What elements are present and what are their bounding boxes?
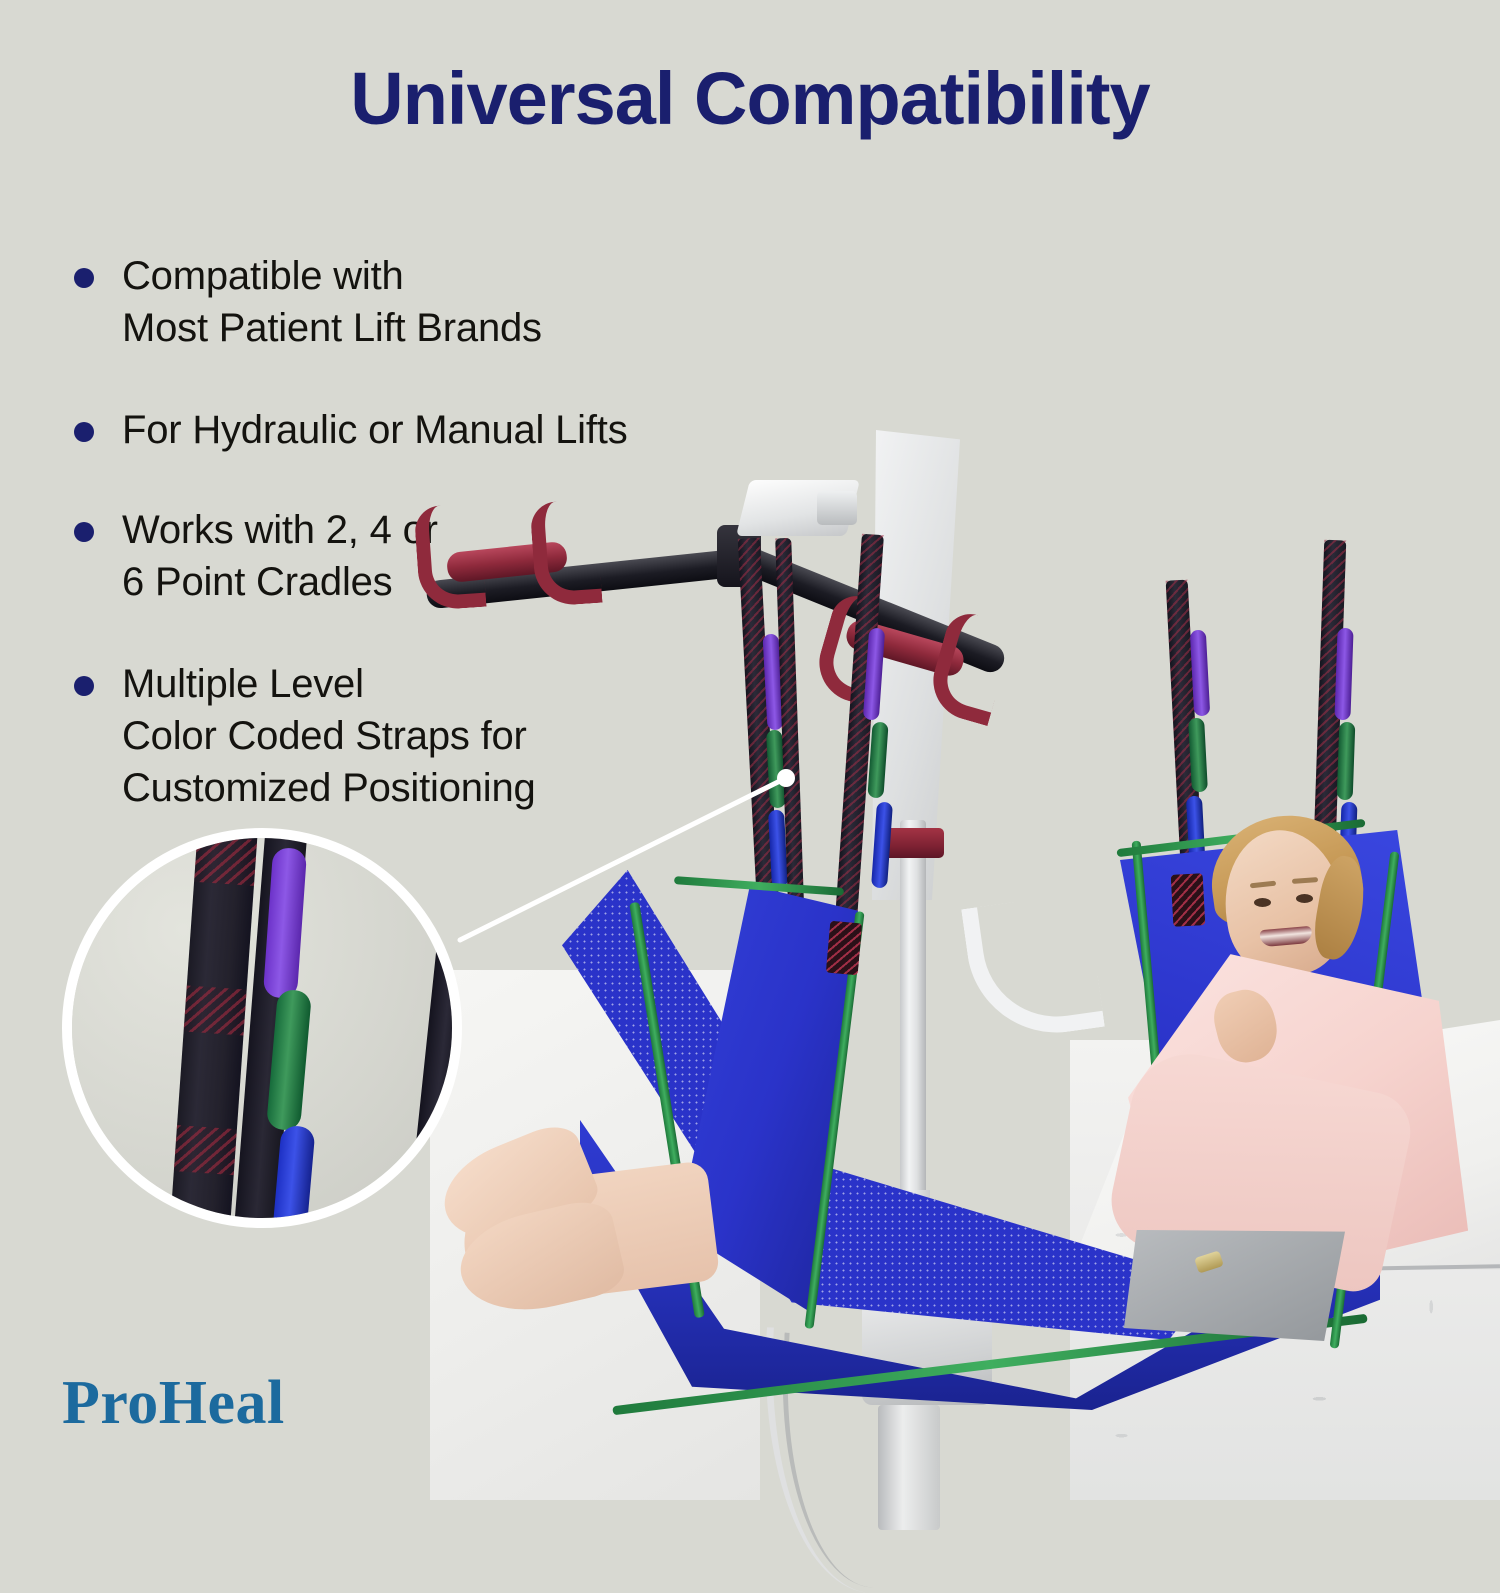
patient-sling (430, 430, 1500, 1500)
patient-eye-right (1296, 894, 1313, 903)
sling-reinforcement-patch-1 (826, 921, 862, 976)
page-title: Universal Compatibility (0, 62, 1500, 136)
strap-detail-magnifier (62, 828, 462, 1228)
poster-canvas: Universal Compatibility Compatible with … (0, 0, 1500, 1500)
magnified-stitching-2 (184, 985, 247, 1035)
bullet-dot-icon (74, 676, 94, 696)
bullet-dot-icon (74, 522, 94, 542)
list-item: Compatible with Most Patient Lift Brands (62, 250, 702, 354)
brand-logo: ProHeal (62, 1368, 285, 1439)
sling-reinforcement-patch-2 (1171, 873, 1206, 927)
bullet-dot-icon (74, 268, 94, 288)
magnifier-contents (72, 838, 452, 1218)
product-photo (430, 430, 1500, 1500)
patient-eye-left (1254, 898, 1271, 907)
magnified-stitching-3 (174, 1125, 237, 1175)
magnified-stitching-1 (194, 836, 257, 886)
brand-name: ProHeal (62, 1369, 285, 1437)
feature-text: Compatible with Most Patient Lift Brands (122, 250, 702, 354)
bullet-dot-icon (74, 422, 94, 442)
